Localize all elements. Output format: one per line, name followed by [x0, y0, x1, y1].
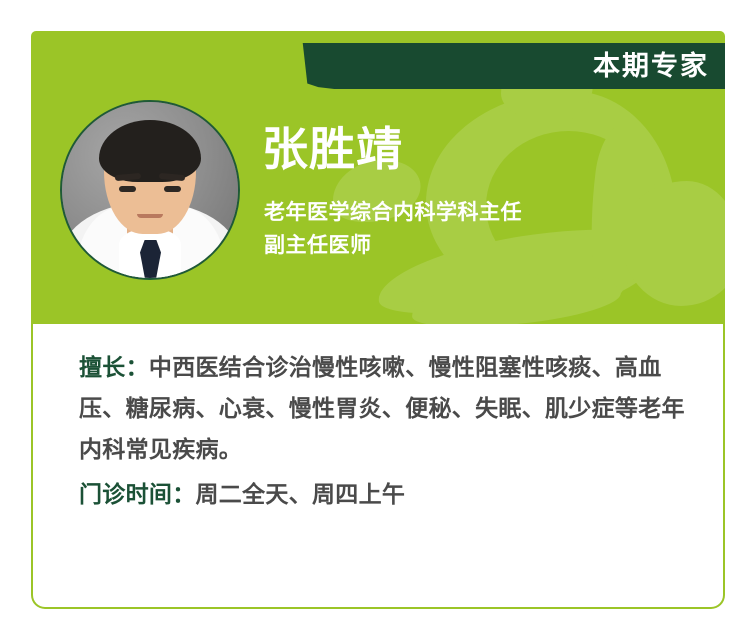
clinic-hours-label: 门诊时间： — [79, 482, 196, 508]
doctor-avatar — [60, 100, 240, 280]
clinic-hours-text: 周二全天、周四上午 — [196, 482, 406, 508]
hero-section: 本期专家 张胜靖 老年医学综合内科学科主任 副主任医师 — [31, 31, 725, 324]
clinic-hours-paragraph: 门诊时间：周二全天、周四上午 — [79, 475, 701, 516]
doctor-title-primary: 老年医学综合内科学科主任 — [264, 196, 522, 229]
section-banner: 本期专家 — [268, 43, 725, 89]
info-panel-content: 擅长：中西医结合诊治慢性咳嗽、慢性阻塞性咳痰、高血压、糖尿病、心衰、慢性胃炎、便… — [33, 324, 723, 516]
doctor-name: 张胜靖 — [262, 125, 403, 173]
info-panel: 擅长：中西医结合诊治慢性咳嗽、慢性阻塞性咳痰、高血压、糖尿病、心衰、慢性胃炎、便… — [31, 324, 725, 609]
doctor-title-secondary: 副主任医师 — [264, 229, 522, 262]
specialty-label: 擅长： — [79, 355, 149, 381]
expert-profile-card: 本期专家 张胜靖 老年医学综合内科学科主任 副主任医师 — [31, 31, 725, 609]
avatar-eye-left — [119, 186, 136, 192]
specialty-paragraph: 擅长：中西医结合诊治慢性咳嗽、慢性阻塞性咳痰、高血压、糖尿病、心衰、慢性胃炎、便… — [79, 348, 701, 471]
decorative-blob-icon — [409, 265, 623, 324]
doctor-titles: 老年医学综合内科学科主任 副主任医师 — [264, 196, 522, 261]
decorative-blob-icon — [621, 181, 725, 306]
specialty-text: 中西医结合诊治慢性咳嗽、慢性阻塞性咳痰、高血压、糖尿病、心衰、慢性胃炎、便秘、失… — [79, 355, 685, 463]
avatar-eye-right — [164, 186, 181, 192]
banner-title: 本期专家 — [593, 53, 725, 80]
decorative-blob-icon — [580, 118, 661, 304]
avatar-mouth — [137, 214, 163, 218]
